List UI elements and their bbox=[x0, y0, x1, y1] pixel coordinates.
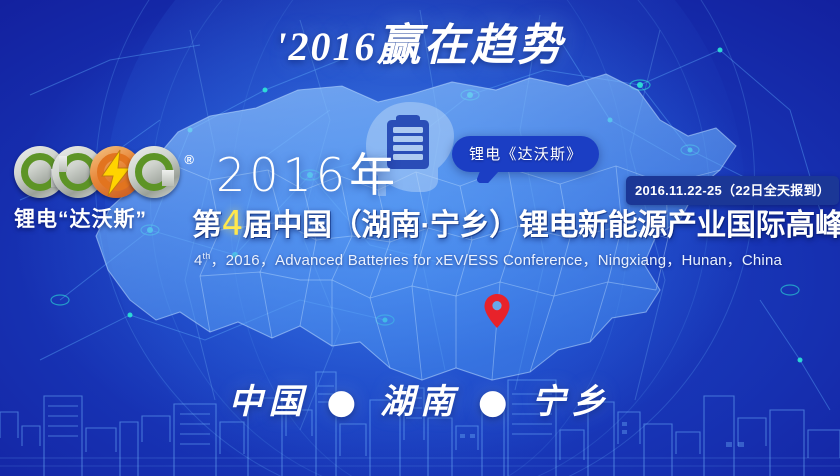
english-title: 4th，2016，Advanced Batteries for xEV/ESS … bbox=[194, 249, 840, 270]
top-slogan: '2016赢在趋势 bbox=[0, 24, 840, 68]
date-badge-text: 2016.11.22-25（22日全天报到） bbox=[635, 183, 830, 198]
logo-badge-c bbox=[128, 146, 180, 198]
slogan-text: 赢在趋势 bbox=[377, 20, 565, 71]
registered-trademark-icon: ® bbox=[184, 152, 194, 167]
english-title-rest: ，2016，Advanced Batteries for xEV/ESS Con… bbox=[210, 252, 782, 269]
english-ordinal: 4 bbox=[194, 252, 203, 269]
edition-number: 4 bbox=[222, 204, 243, 244]
event-year: 2016年 bbox=[216, 152, 399, 198]
map-pin-icon bbox=[484, 294, 510, 328]
footer-location: 中国 ● 湖南 ● 宁乡 bbox=[0, 374, 840, 423]
speech-bubble: 锂电《达沃斯》 bbox=[452, 136, 599, 172]
main-title: 第4届中国（湖南·宁乡）锂电新能源产业国际高峰论坛 bbox=[192, 207, 840, 243]
date-badge: 2016.11.22-25（22日全天报到） bbox=[626, 176, 839, 205]
speech-bubble-text: 锂电《达沃斯》 bbox=[469, 146, 582, 163]
slogan-year: '2016 bbox=[275, 24, 376, 69]
abec-logo[interactable]: ® 锂电“达沃斯” bbox=[14, 146, 192, 233]
logo-badges: ® bbox=[14, 146, 192, 198]
main-title-prefix: 第 bbox=[192, 209, 222, 242]
main-title-rest: 届中国（湖南·宁乡）锂电新能源产业国际高峰论坛 bbox=[243, 209, 840, 242]
conference-poster: '2016赢在趋势 ® 锂电“达沃斯” 2016年 第4届中国（湖南·宁乡）锂电… bbox=[0, 0, 840, 476]
logo-subtitle: 锂电“达沃斯” bbox=[14, 203, 192, 233]
